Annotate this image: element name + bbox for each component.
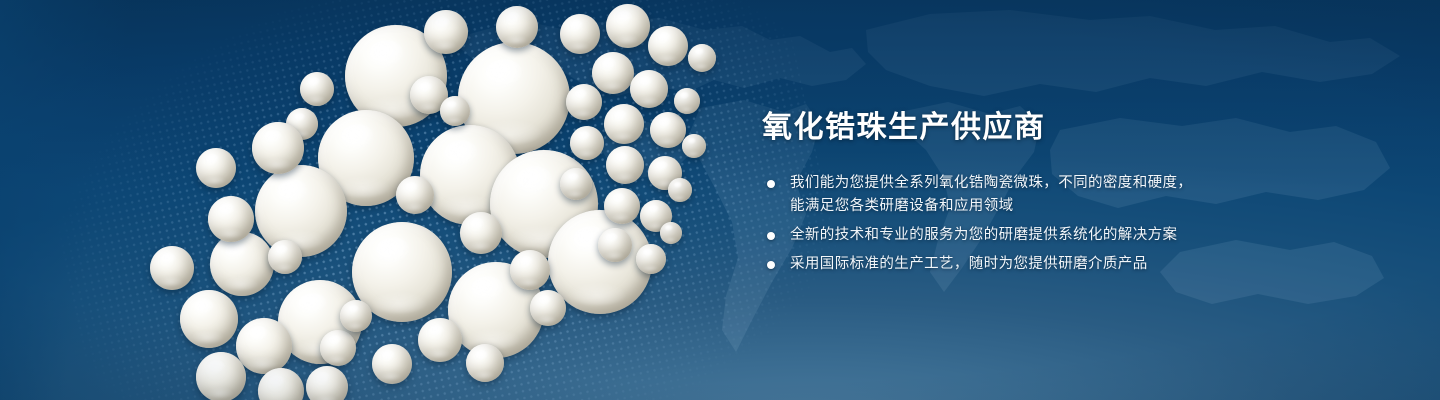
- page-title: 氧化锆珠生产供应商: [762, 108, 1232, 148]
- hero-banner: 氧化锆珠生产供应商 我们能为您提供全系列氧化锆陶瓷微珠，不同的密度和硬度， 能满…: [0, 0, 1440, 400]
- list-item: 采用国际标准的生产工艺，随时为您提供研磨介质产品: [762, 253, 1232, 276]
- list-item-line: 能满足您各类研磨设备和应用领域: [790, 195, 1232, 218]
- bullet-dot-icon: [767, 180, 775, 188]
- list-item: 我们能为您提供全系列氧化锆陶瓷微珠，不同的密度和硬度， 能满足您各类研磨设备和应…: [762, 172, 1232, 218]
- banner-copy: 氧化锆珠生产供应商 我们能为您提供全系列氧化锆陶瓷微珠，不同的密度和硬度， 能满…: [762, 108, 1232, 276]
- bullet-dot-icon: [767, 261, 775, 269]
- list-item-line: 我们能为您提供全系列氧化锆陶瓷微珠，不同的密度和硬度，: [790, 172, 1232, 195]
- list-item-line: 全新的技术和专业的服务为您的研磨提供系统化的解决方案: [790, 224, 1232, 247]
- bullet-dot-icon: [767, 232, 775, 240]
- list-item: 全新的技术和专业的服务为您的研磨提供系统化的解决方案: [762, 224, 1232, 247]
- list-item-line: 采用国际标准的生产工艺，随时为您提供研磨介质产品: [790, 253, 1232, 276]
- feature-list: 我们能为您提供全系列氧化锆陶瓷微珠，不同的密度和硬度， 能满足您各类研磨设备和应…: [762, 172, 1232, 276]
